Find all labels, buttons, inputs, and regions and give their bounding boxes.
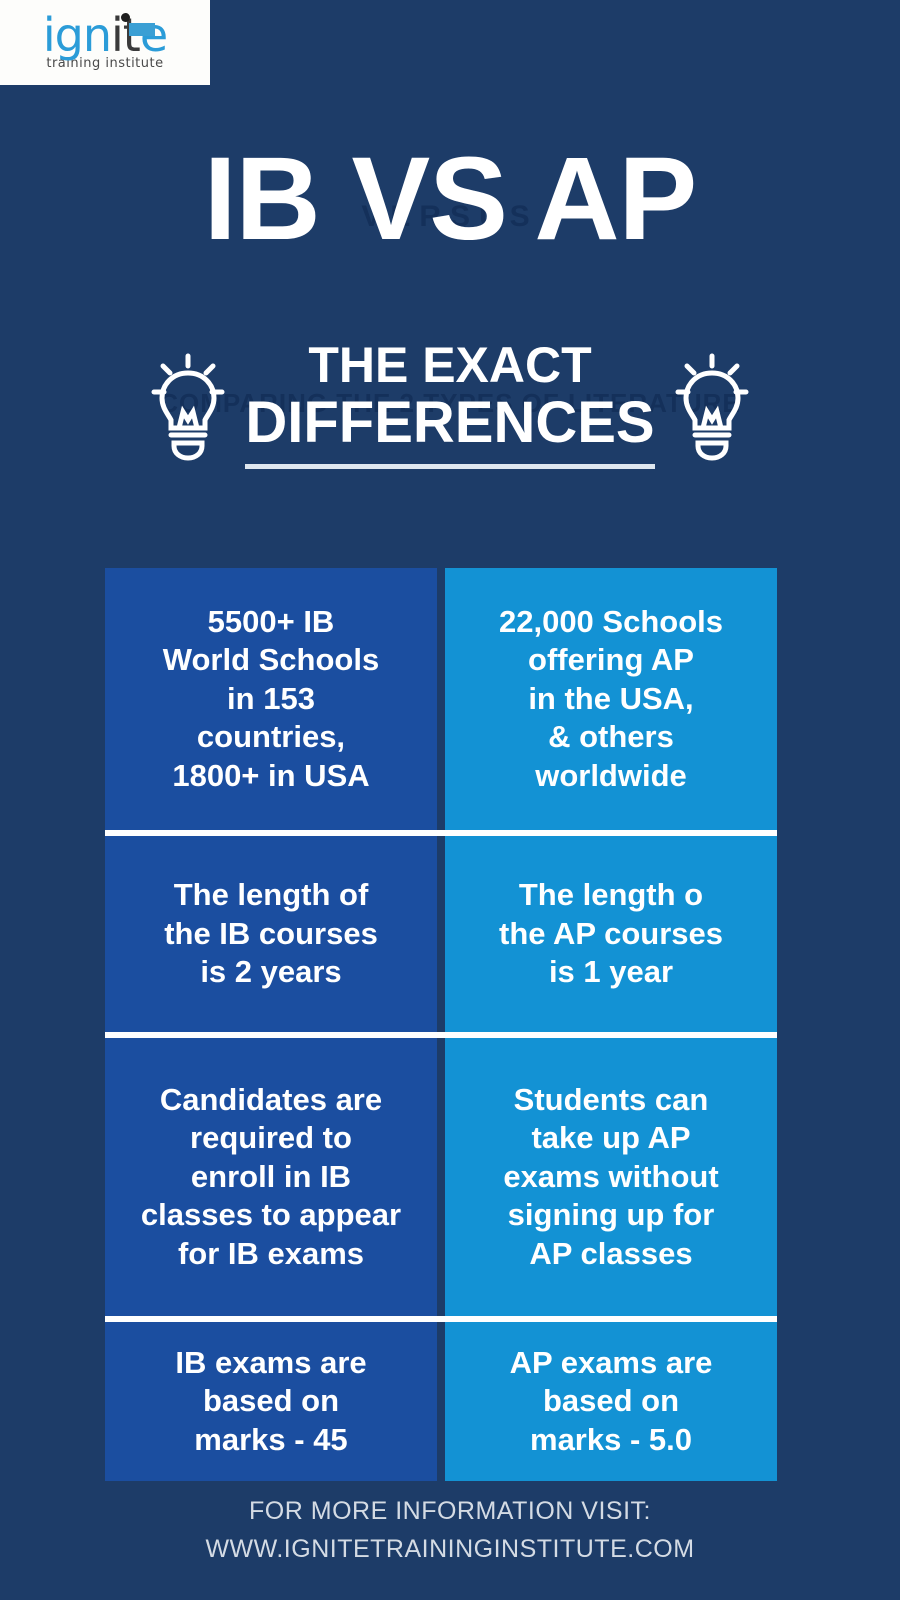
table-row: IB exams are based on marks - 45 AP exam… (105, 1322, 777, 1481)
table-cell-ap: The length o the AP courses is 1 year (445, 836, 777, 1032)
table-cell-ap: AP exams are based on marks - 5.0 (445, 1322, 777, 1481)
logo-bar-icon (129, 23, 155, 36)
logo-dot-icon (121, 13, 130, 22)
column-gap (437, 1322, 445, 1481)
footer-website-url[interactable]: WWW.IGNITETRAININGINSTITUTE.COM (0, 1531, 900, 1569)
table-cell-ib: Candidates are required to enroll in IB … (105, 1038, 437, 1316)
footer: FOR MORE INFORMATION VISIT: WWW.IGNITETR… (0, 1493, 900, 1568)
table-cell-ib: IB exams are based on marks - 45 (105, 1322, 437, 1481)
comparison-table: 5500+ IB World Schools in 153 countries,… (105, 568, 777, 1481)
infographic-page: ignite training institute VERSUS IB VS A… (0, 0, 900, 1600)
subtitle-line-1: THE EXACT (245, 340, 654, 390)
page-subtitle: THE EXACT DIFFERENCES (245, 340, 654, 473)
table-row: 5500+ IB World Schools in 153 countries,… (105, 568, 777, 830)
subtitle-block: THE EXACT DIFFERENCES (0, 340, 900, 473)
table-row: Candidates are required to enroll in IB … (105, 1038, 777, 1316)
column-gap (437, 836, 445, 1032)
ignite-logo-icon: ignite (43, 14, 167, 58)
lightbulb-icon (149, 345, 227, 468)
subtitle-line-2: DIFFERENCES (245, 394, 654, 452)
footer-info-label: FOR MORE INFORMATION VISIT: (0, 1493, 900, 1531)
column-gap (437, 1038, 445, 1316)
lightbulb-icon (673, 345, 751, 468)
subtitle-underline (245, 464, 654, 469)
table-cell-ap: Students can take up AP exams without si… (445, 1038, 777, 1316)
brand-logo: ignite training institute (0, 0, 210, 85)
column-gap (437, 568, 445, 830)
page-title: IB VS AP (0, 140, 900, 258)
logo-text-part1: ign (43, 8, 111, 62)
table-cell-ap: 22,000 Schools offering AP in the USA, &… (445, 568, 777, 830)
table-cell-ib: 5500+ IB World Schools in 153 countries,… (105, 568, 437, 830)
table-row: The length of the IB courses is 2 years … (105, 836, 777, 1032)
table-cell-ib: The length of the IB courses is 2 years (105, 836, 437, 1032)
